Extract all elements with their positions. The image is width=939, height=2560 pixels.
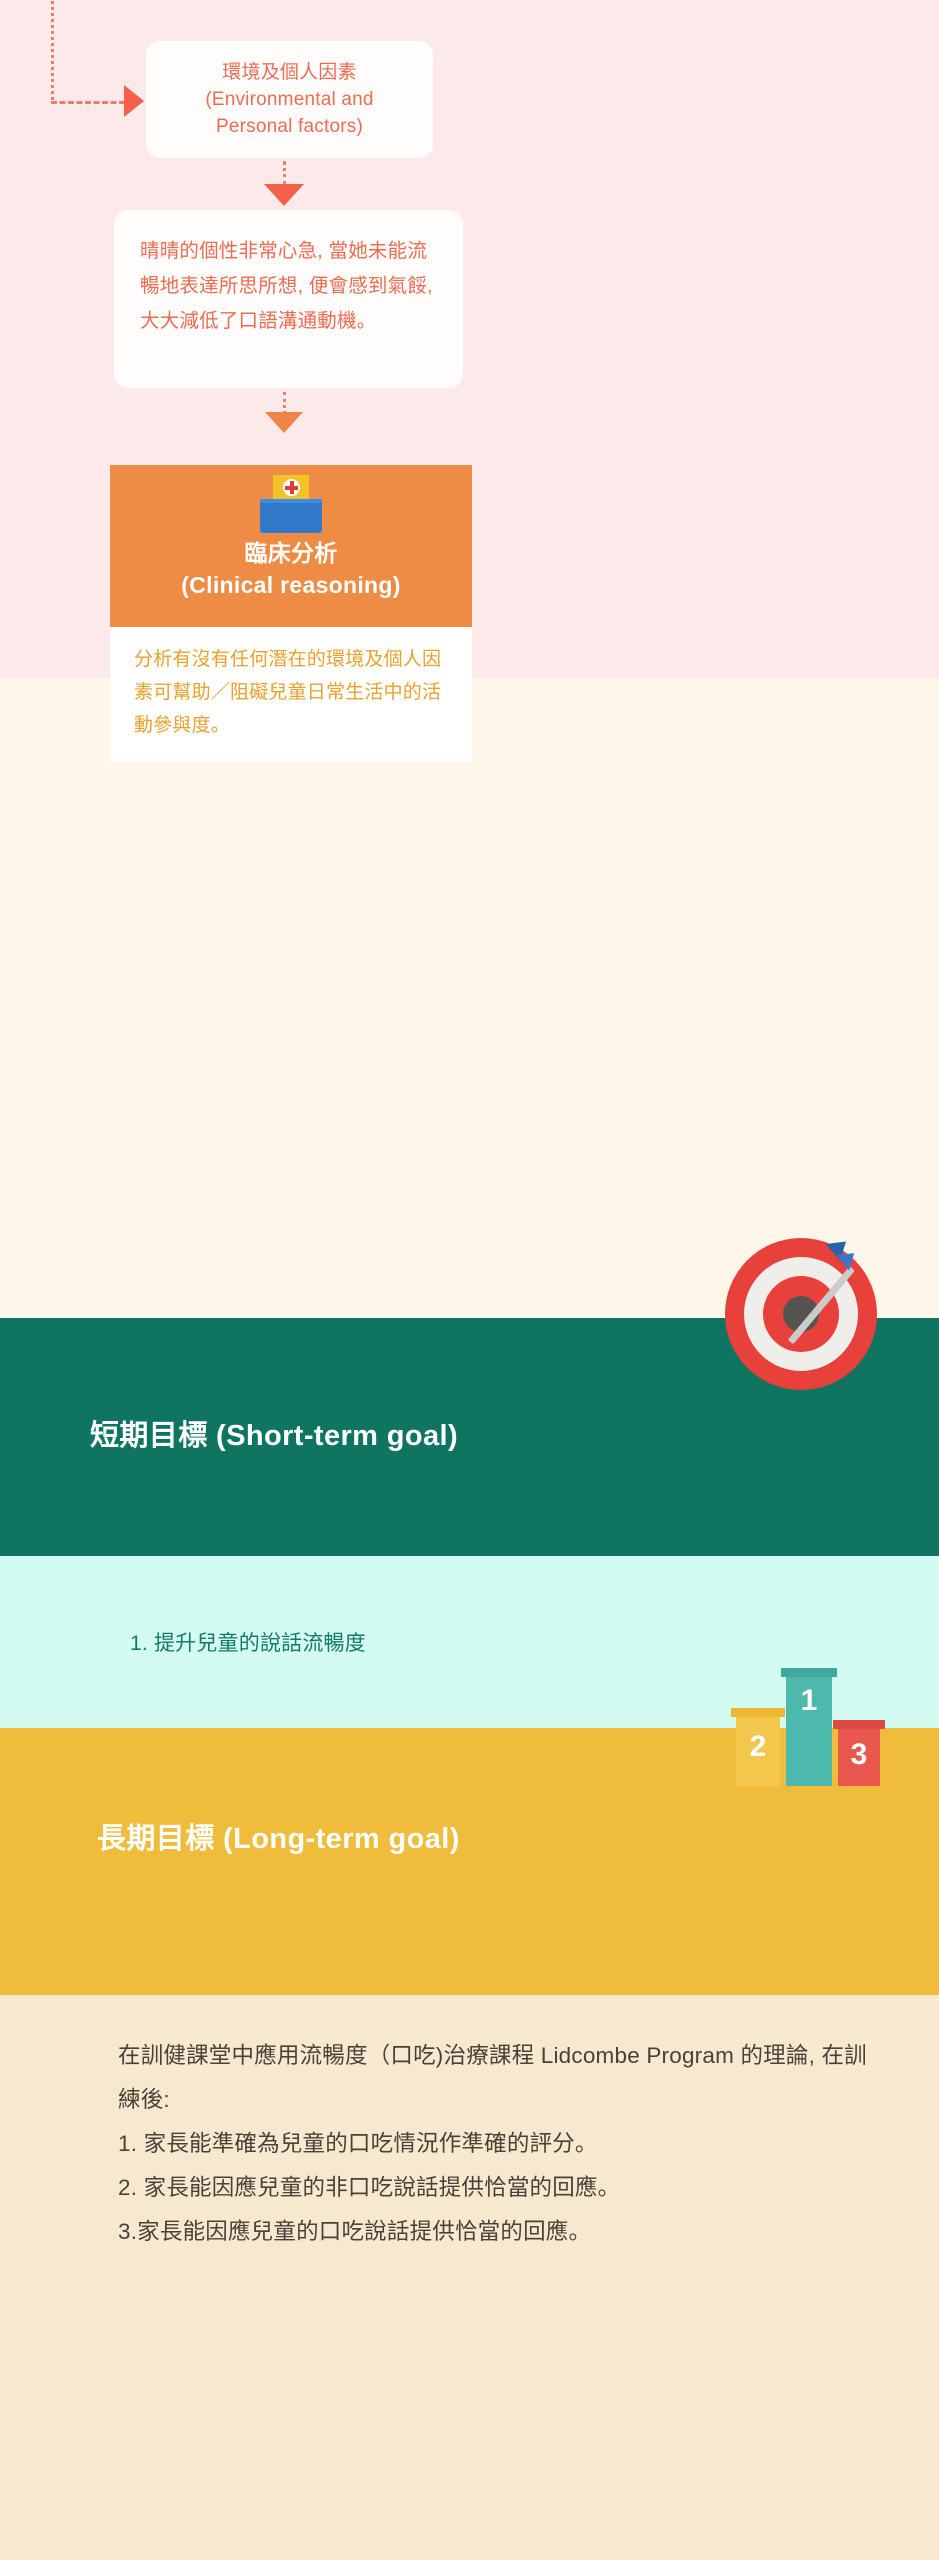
environmental-factors-label-en-line1: (Environmental and	[205, 86, 373, 113]
environmental-factors-card: 環境及個人因素 (Environmental and Personal fact…	[146, 41, 433, 158]
environmental-factors-label-en-line2: Personal factors)	[216, 113, 363, 140]
podium-third-number: 3	[838, 1738, 880, 1772]
connector-vertical-dotted-3	[283, 392, 286, 414]
arrow-down-icon-1	[264, 184, 304, 206]
podium-second-cap-shape	[731, 1708, 785, 1717]
connector-vertical-dotted-2	[283, 161, 286, 185]
infographic-page: 環境及個人因素 (Environmental and Personal fact…	[0, 0, 939, 2560]
target-dartboard-icon	[725, 1238, 877, 1390]
folder-pocket-front-shape	[260, 503, 322, 533]
podium-second-place-column: 2	[736, 1708, 780, 1786]
arrow-right-icon	[124, 85, 144, 117]
arrow-down-icon-2	[265, 412, 303, 433]
section-background-cream	[0, 678, 939, 1318]
clinical-reasoning-title-zh: 臨床分析	[244, 537, 337, 569]
medical-cross-horizontal-shape	[285, 486, 298, 490]
clinical-reasoning-body-card: 分析有沒有任何潛在的環境及個人因素可幫助／阻礙兒童日常生活中的活動參與度。	[110, 627, 472, 762]
podium-ranking-icon: 2 1 3	[730, 1668, 890, 1786]
case-note-card: 晴晴的個性非常心急, 當她未能流暢地表達所思所想, 便會感到氣餒, 大大減低了口…	[114, 210, 463, 388]
connector-horizontal-dotted	[51, 101, 125, 104]
podium-first-number: 1	[786, 1684, 832, 1718]
podium-third-cap-shape	[833, 1720, 885, 1729]
long-term-goal-title: 長期目標 (Long-term goal)	[97, 1815, 460, 1857]
long-term-goal-body-text: 在訓健課堂中應用流暢度（口吃)治療課程 Lidcombe Program 的理論…	[118, 2034, 878, 2254]
connector-vertical-dotted	[51, 0, 54, 100]
short-term-goal-title: 短期目標 (Short-term goal)	[90, 1412, 458, 1454]
podium-first-place-column: 1	[786, 1668, 832, 1786]
medical-folder-icon	[260, 475, 322, 533]
clinical-reasoning-header: 臨床分析 (Clinical reasoning)	[110, 465, 472, 627]
environmental-factors-label-zh: 環境及個人因素	[222, 59, 356, 86]
case-note-text: 晴晴的個性非常心急, 當她未能流暢地表達所思所想, 便會感到氣餒, 大大減低了口…	[140, 234, 439, 339]
short-term-goal-item-1: 1. 提升兒童的說話流暢度	[130, 1627, 366, 1657]
clinical-reasoning-body-text: 分析有沒有任何潛在的環境及個人因素可幫助／阻礙兒童日常生活中的活動參與度。	[134, 643, 450, 742]
clinical-reasoning-title-en: (Clinical reasoning)	[181, 569, 400, 601]
podium-third-place-column: 3	[838, 1720, 880, 1786]
podium-first-cap-shape	[781, 1668, 837, 1677]
podium-second-number: 2	[736, 1730, 780, 1764]
long-term-goal-body: 在訓健課堂中應用流暢度（口吃)治療課程 Lidcombe Program 的理論…	[118, 2034, 878, 2254]
